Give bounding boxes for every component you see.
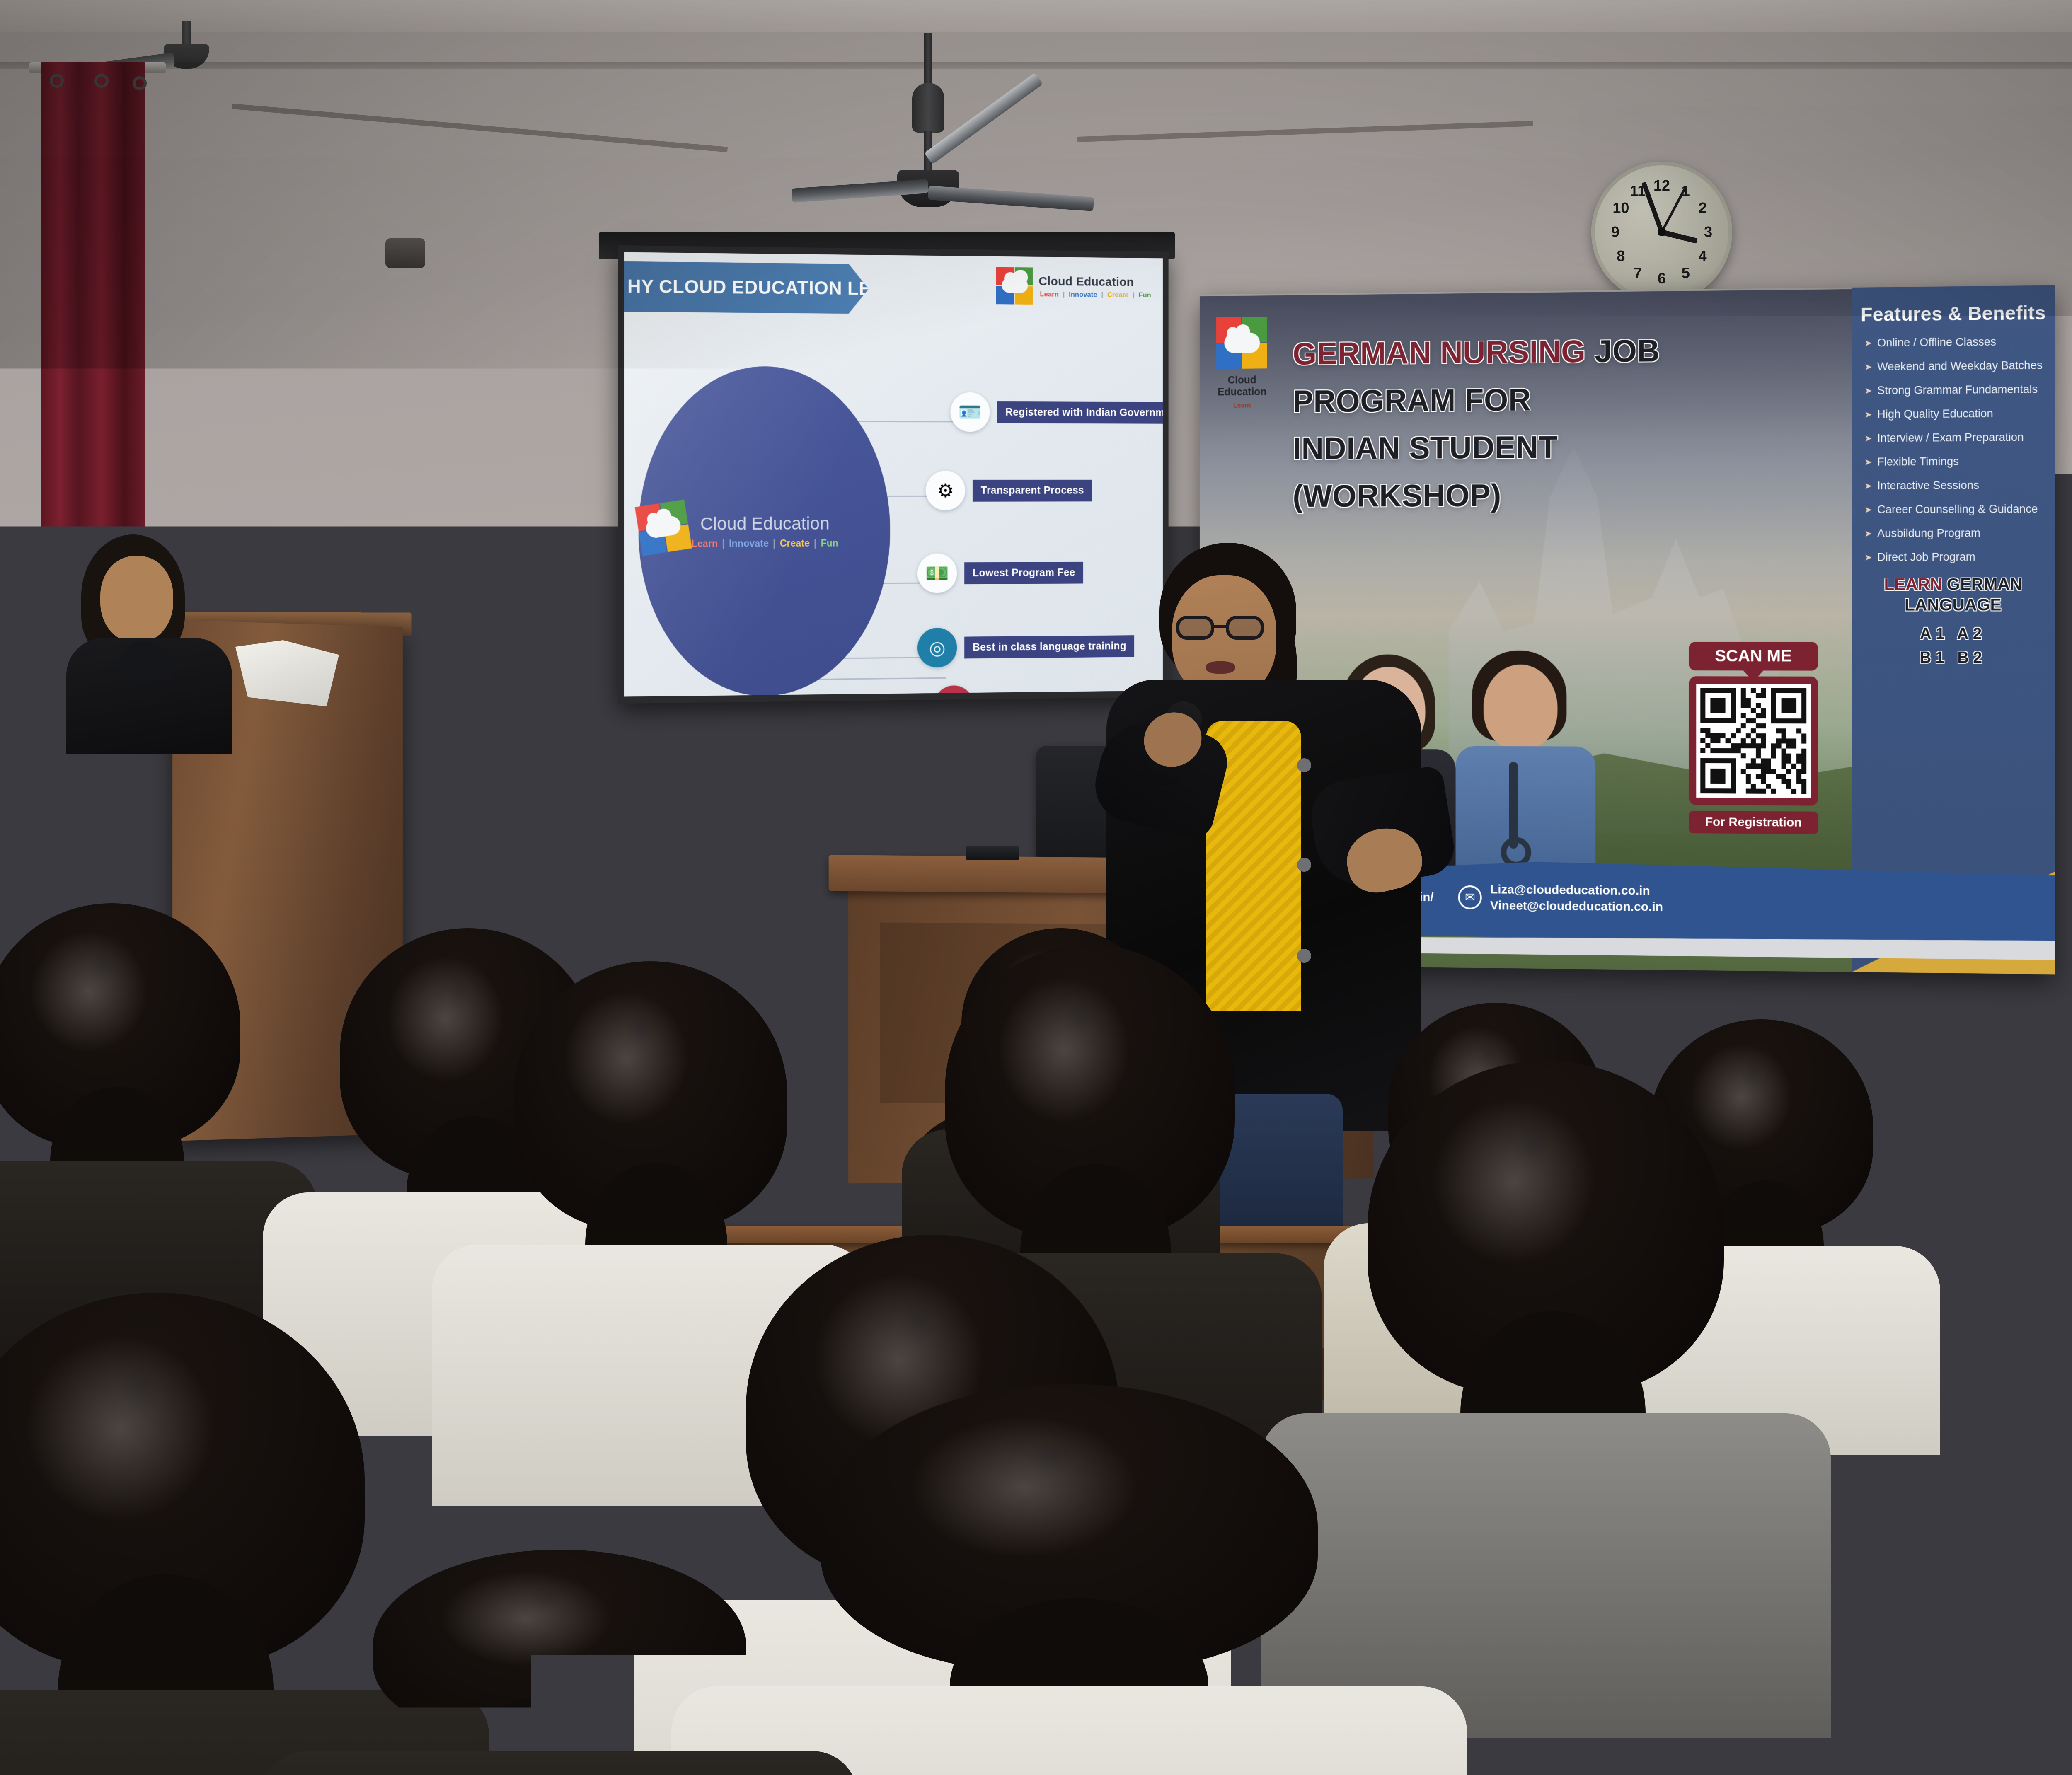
clock-number: 6 — [1658, 270, 1666, 287]
slide-logo-tags: Learn| Innovate| Create| Fun — [1038, 290, 1152, 299]
arrow-icon: ➤ — [1864, 457, 1872, 467]
slide-bullet: 💵 Lowest Program Fee — [917, 553, 1083, 593]
feature-item: ➤Ausbildung Program — [1864, 527, 2047, 540]
audience-member — [0, 1293, 365, 1775]
poster-line-2: 5 – 26 — [8, 733, 56, 752]
banner-logo-caption: Cloud Education — [1212, 374, 1272, 398]
slide-logo-wordmark: Cloud Education Learn| Innovate| Create|… — [1038, 275, 1152, 299]
cloud-education-logo-icon — [996, 267, 1034, 305]
arrow-icon: ➤ — [1864, 361, 1872, 372]
cloud-education-logo-icon — [635, 499, 693, 557]
qr-code — [1696, 684, 1811, 798]
poster-line-3: -N-G) — [11, 758, 53, 777]
id-card-icon: 🪪 — [950, 392, 990, 432]
scan-sub-label: For Registration — [1689, 811, 1818, 834]
feature-item: ➤High Quality Education — [1864, 407, 2047, 421]
clock-number: 4 — [1699, 247, 1707, 265]
envelope-icon: ✉ — [1458, 885, 1482, 909]
cabinet-handle[interactable] — [452, 864, 464, 914]
feature-item: ➤Flexible Timings — [1864, 455, 2047, 469]
support-icon: ⚗ — [934, 685, 973, 697]
slide-bullet-label: Lowest Program Fee — [964, 561, 1083, 584]
slide-logo: Cloud Education Learn| Innovate| Create|… — [996, 267, 1152, 307]
feature-item: ➤Interactive Sessions — [1864, 479, 2047, 492]
language-levels: A1 A2 B1 B2 — [1852, 622, 2055, 670]
email-text: Liza@cloudeducation.co.in Vineet@clouded… — [1490, 881, 1663, 915]
audience-member — [373, 1550, 746, 1775]
scan-me-label: SCAN ME — [1689, 642, 1818, 671]
curtain-ring — [94, 74, 109, 88]
blazer-button — [1297, 949, 1311, 963]
curtain-ring — [50, 74, 64, 88]
audience-member — [1368, 1061, 1724, 1525]
qr-code-frame — [1689, 676, 1818, 805]
clock-number: 5 — [1682, 264, 1690, 282]
feature-item: ➤Weekend and Weekday Batches — [1864, 359, 2047, 373]
clock-number: 9 — [1611, 223, 1619, 241]
qr-code-modules — [1700, 688, 1806, 794]
seated-staff-member — [62, 534, 240, 750]
slide-title-banner: HY CLOUD EDUCATION LEARNING? — [624, 261, 869, 314]
slide-bullet-label: Registered with Indian Government — [997, 401, 1163, 423]
slide-center-oval: Cloud Education Learn| Innovate| Create|… — [639, 366, 890, 697]
slide-title: HY CLOUD EDUCATION LEARNING? — [624, 276, 956, 300]
audience-member — [821, 1384, 1318, 1775]
clock-number: 3 — [1704, 223, 1712, 241]
features-heading: Features & Benefits — [1852, 285, 2055, 337]
slide-logo-name: Cloud Education — [1038, 275, 1152, 289]
feature-item: ➤Interview / Exam Preparation — [1864, 430, 2047, 445]
ceiling-fan — [742, 33, 1115, 174]
banner-logo-tag: Learn — [1212, 402, 1272, 410]
language-badge-icon: ◎ — [917, 628, 957, 668]
arrow-icon: ➤ — [1864, 528, 1872, 539]
clock-number: 10 — [1612, 199, 1629, 217]
ceiling — [0, 0, 2072, 37]
levels-row-a: A1 A2 — [1852, 622, 2055, 646]
gears-icon: ⚙ — [926, 471, 965, 510]
banner-logo: Cloud Education Learn — [1212, 317, 1272, 410]
qr-registration-block: SCAN ME For Registration — [1689, 642, 1818, 834]
classroom-photo: SPORT 5 – 26 -N-G) HY CLOUD EDUCATION LE… — [0, 0, 2072, 1775]
arrow-icon: ➤ — [1864, 504, 1872, 515]
cloud-education-logo-icon — [1216, 317, 1268, 370]
clock-center-pin — [1658, 228, 1666, 236]
features-list: ➤Online / Offline Classes ➤Weekend and W… — [1852, 335, 2055, 564]
wall-clock: 12 1 2 3 4 5 6 7 8 9 10 11 — [1591, 162, 1732, 302]
blazer-button — [1297, 758, 1311, 772]
clock-hour-hand — [1661, 230, 1698, 244]
clock-number: 8 — [1617, 247, 1625, 265]
staff-collar — [120, 641, 170, 679]
notebook-stack — [2020, 1605, 2072, 1748]
blazer-button — [1297, 858, 1311, 872]
eyeglasses-icon — [1176, 616, 1269, 640]
banner-title: GERMAN NURSING JOB PROGRAM FOR INDIAN ST… — [1293, 326, 1736, 520]
feature-item: ➤Career Counselling & Guidance — [1864, 503, 2047, 516]
arrow-icon: ➤ — [1864, 409, 1872, 420]
staff-face — [100, 556, 173, 642]
slide-bullet: 🪪 Registered with Indian Government — [950, 392, 1163, 433]
levels-row-b: B1 B2 — [1852, 646, 2055, 670]
slide-bullet-label: Transparent Process — [973, 479, 1092, 501]
banner-title-line2: INDIAN STUDENT (WORKSHOP) — [1293, 430, 1558, 514]
money-icon: 💵 — [917, 553, 957, 593]
arrow-icon: ➤ — [1864, 433, 1872, 444]
arrow-icon: ➤ — [1864, 338, 1872, 348]
mobile-phone[interactable] — [966, 846, 1019, 860]
clock-second-hand — [1661, 188, 1686, 233]
feature-item: ➤Direct Job Program — [1864, 550, 2047, 563]
wall-speaker — [385, 238, 425, 268]
learn-german-heading: LEARN GERMAN LANGUAGE — [1852, 574, 2055, 615]
curtain-ring — [133, 76, 147, 90]
slide-center-tags: Learn| Innovate| Create| Fun — [691, 537, 838, 549]
clock-number: 2 — [1699, 199, 1707, 217]
arrow-icon: ➤ — [1864, 481, 1872, 491]
poster-line-1: SPORT — [1, 707, 63, 727]
audience-member — [0, 903, 240, 1243]
feature-item: ➤Strong Grammar Fundamentals — [1864, 383, 2047, 397]
arrow-icon: ➤ — [1864, 385, 1872, 396]
arrow-icon: ➤ — [1864, 552, 1872, 563]
email-secondary: Vineet@cloudeducation.co.in — [1490, 897, 1663, 915]
email-primary: Liza@cloudeducation.co.in — [1490, 881, 1663, 899]
slide-bullet: ⚙ Transparent Process — [926, 471, 1092, 510]
clock-number: 12 — [1653, 177, 1670, 194]
feature-item: ➤Online / Offline Classes — [1864, 335, 2047, 349]
banner-title-highlight: GERMAN NURSING — [1293, 334, 1585, 372]
slide-center-label: Cloud Education — [691, 513, 838, 534]
contact-emails: ✉ Liza@cloudeducation.co.in Vineet@cloud… — [1458, 881, 1663, 915]
clock-number: 7 — [1634, 264, 1642, 282]
presenter-mouth — [1206, 661, 1235, 674]
